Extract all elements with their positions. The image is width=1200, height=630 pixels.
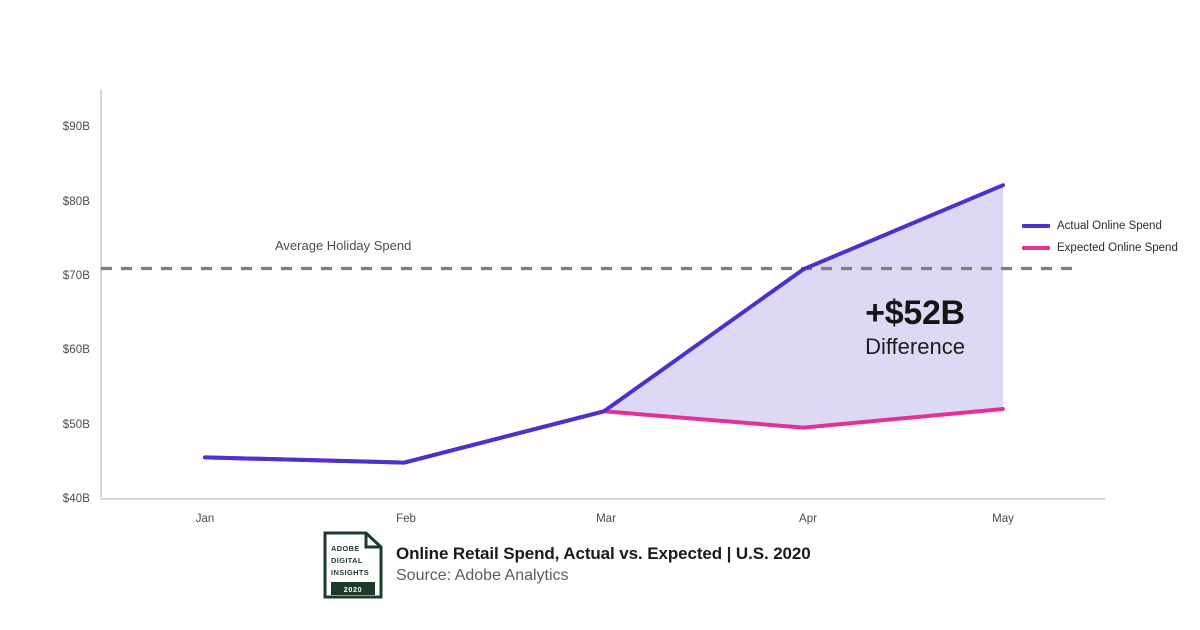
- adobe-digital-insights-logo-icon: ADOBE DIGITAL INSIGHTS 2020: [322, 530, 384, 600]
- chart-title: Online Retail Spend, Actual vs. Expected…: [396, 544, 811, 564]
- legend-swatch-expected-icon: [1022, 246, 1050, 250]
- chart-source: Source: Adobe Analytics: [396, 567, 811, 585]
- average-holiday-spend-label: Average Holiday Spend: [275, 238, 411, 253]
- svg-text:2020: 2020: [344, 585, 362, 594]
- chart-legend: Actual Online Spend Expected Online Spen…: [1022, 216, 1200, 260]
- svg-text:INSIGHTS: INSIGHTS: [331, 568, 369, 577]
- difference-callout: +$52B Difference: [845, 296, 985, 360]
- legend-label-expected: Expected Online Spend: [1057, 242, 1178, 254]
- x-tick-mar: Mar: [596, 513, 616, 525]
- difference-caption: Difference: [845, 334, 985, 360]
- x-tick-feb: Feb: [396, 513, 416, 525]
- svg-text:DIGITAL: DIGITAL: [331, 556, 363, 565]
- chart-screenshot: $90B $80B $70B $60B $50B $40B Jan Feb Ma…: [0, 0, 1200, 630]
- footer-text-block: Online Retail Spend, Actual vs. Expected…: [396, 530, 811, 585]
- svg-text:ADOBE: ADOBE: [331, 544, 360, 553]
- legend-swatch-actual-icon: [1022, 224, 1050, 228]
- chart-footer: ADOBE DIGITAL INSIGHTS 2020 Online Retai…: [322, 530, 811, 600]
- legend-label-actual: Actual Online Spend: [1057, 220, 1162, 232]
- legend-item-actual-online-spend[interactable]: Actual Online Spend: [1022, 216, 1200, 235]
- legend-item-expected-online-spend[interactable]: Expected Online Spend: [1022, 238, 1200, 257]
- difference-value: +$52B: [845, 296, 985, 332]
- x-tick-jan: Jan: [196, 513, 215, 525]
- x-tick-may: May: [992, 513, 1014, 525]
- x-tick-apr: Apr: [799, 513, 817, 525]
